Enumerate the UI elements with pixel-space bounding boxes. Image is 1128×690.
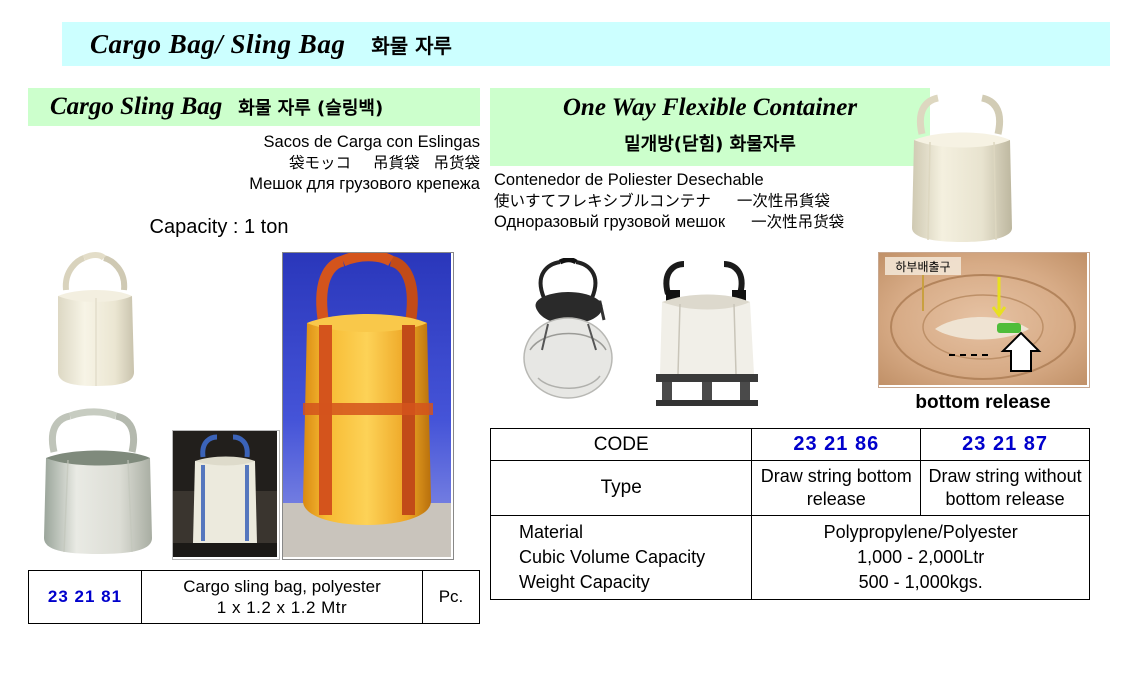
product-type-2: Draw string without bottom release xyxy=(921,461,1090,516)
right-section-heading: One Way Flexible Container 밑개방(닫힘) 화물자루 xyxy=(490,88,930,166)
page-title-korean: 화물 자루 xyxy=(371,30,452,59)
right-translation-chinese-cn: 一次性吊货袋 xyxy=(751,213,844,231)
cream-sling-bag-image xyxy=(36,252,156,392)
right-spec-table: CODE 23 21 86 23 21 87 Type Draw string … xyxy=(490,428,1090,600)
right-heading-korean: 밑개방(닫힘) 화물자루 xyxy=(490,122,930,156)
black-white-sling-bag-photo xyxy=(504,258,634,403)
code-row-label: CODE xyxy=(491,429,752,461)
left-product-code: 23 21 81 xyxy=(29,571,142,624)
product-code-1: 23 21 86 xyxy=(752,429,921,461)
left-description-line1: Cargo sling bag, polyester xyxy=(146,576,418,597)
spec-label-cubic-volume: Cubic Volume Capacity xyxy=(519,545,745,570)
product-code-2: 23 21 87 xyxy=(921,429,1090,461)
left-product-table: 23 21 81 Cargo sling bag, polyester 1 x … xyxy=(28,570,480,624)
right-translation-row-ru-cn: Одноразовый грузовой мешок一次性吊货袋 xyxy=(494,212,924,233)
right-translation-spanish: Contenedor de Poliester Desechable xyxy=(494,170,924,191)
right-translations: Contenedor de Poliester Desechable 使いすてフ… xyxy=(494,170,924,233)
right-heading-english: One Way Flexible Container xyxy=(490,88,930,122)
spec-label-material: Material xyxy=(519,520,745,545)
grey-bulk-bag-image xyxy=(28,408,168,558)
left-translation-chinese-cn: 吊货袋 xyxy=(433,154,480,172)
table-row-code: CODE 23 21 86 23 21 87 xyxy=(491,429,1090,461)
product-type-1: Draw string bottom release xyxy=(752,461,921,516)
spec-value-cubic-volume: 1,000 - 2,000Ltr xyxy=(758,545,1083,570)
left-translation-cjk-row: 袋モッコ吊貨袋吊货袋 xyxy=(28,153,480,174)
left-heading-korean: 화물 자루 (슬링백) xyxy=(238,94,383,120)
bottom-release-caption: bottom release xyxy=(878,392,1088,414)
left-translation-japanese: 袋モッコ xyxy=(289,154,351,172)
type-row-label: Type xyxy=(491,461,752,516)
bottom-release-detail-photo: 하부배출구 xyxy=(878,252,1090,388)
left-description-line2: 1 x 1.2 x 1.2 Mtr xyxy=(146,597,418,618)
left-translation-chinese-tw: 吊貨袋 xyxy=(373,154,420,172)
right-translation-japanese: 使いすてフレキシブルコンテナ xyxy=(494,192,711,210)
spec-value-material: Polypropylene/Polyester xyxy=(758,520,1083,545)
bulk-bag-warehouse-photo xyxy=(172,430,280,560)
catalog-page: Cargo Bag/ Sling Bag 화물 자루 Cargo Sling B… xyxy=(0,0,1128,690)
left-section-heading: Cargo Sling Bag 화물 자루 (슬링백) xyxy=(28,88,480,126)
release-photo-caption: 하부배출구 xyxy=(895,260,950,274)
left-product-unit: Pc. xyxy=(423,571,480,624)
right-translation-russian: Одноразовый грузовой мешок xyxy=(494,213,725,231)
spec-values-cell: Polypropylene/Polyester 1,000 - 2,000Ltr… xyxy=(752,516,1090,600)
spec-labels-cell: Material Cubic Volume Capacity Weight Ca… xyxy=(491,516,752,600)
left-translation-russian: Мешок для грузового крепежа xyxy=(28,174,480,195)
table-row-specs: Material Cubic Volume Capacity Weight Ca… xyxy=(491,516,1090,600)
orange-sling-bag-photo xyxy=(282,252,454,560)
left-capacity-text: Capacity : 1 ton xyxy=(28,216,480,239)
right-translation-row-jp-tw: 使いすてフレキシブルコンテナ一次性吊貨袋 xyxy=(494,191,924,212)
page-title: Cargo Bag/ Sling Bag xyxy=(90,29,345,60)
flexible-container-on-pallet-photo xyxy=(640,258,776,408)
spec-value-weight: 500 - 1,000kgs. xyxy=(758,570,1083,595)
table-row: 23 21 81 Cargo sling bag, polyester 1 x … xyxy=(29,571,480,624)
left-translations: Sacos de Carga con Eslingas 袋モッコ吊貨袋吊货袋 М… xyxy=(28,132,480,195)
page-banner: Cargo Bag/ Sling Bag 화물 자루 xyxy=(62,22,1110,66)
left-product-description: Cargo sling bag, polyester 1 x 1.2 x 1.2… xyxy=(142,571,423,624)
left-heading-english: Cargo Sling Bag xyxy=(50,93,222,121)
right-translation-chinese-tw: 一次性吊貨袋 xyxy=(737,192,830,210)
left-translation-spanish: Sacos de Carga con Eslingas xyxy=(28,132,480,153)
spec-label-weight: Weight Capacity xyxy=(519,570,745,595)
table-row-type: Type Draw string bottom release Draw str… xyxy=(491,461,1090,516)
